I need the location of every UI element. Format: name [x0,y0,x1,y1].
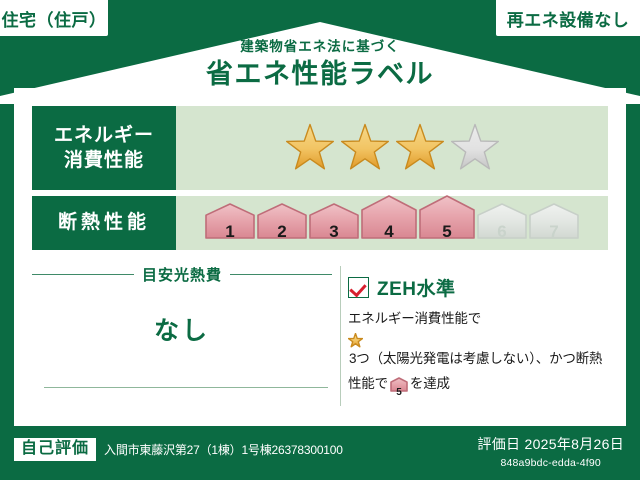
zeh-section: ZEH水準 エネルギー消費性能で3つ（太陽光発電は考慮しない）、かつ断熱性能で5… [348,264,608,410]
insulation-level-7: 7 [529,203,579,244]
zeh-desc-star-count: 3つ（太陽光発電 [349,351,449,366]
footer-right-group: 評価日 2025年8月26日 848a9bdc-edda-4f90 [477,434,624,469]
heading-rule-left [32,274,134,275]
tag-renewable-equipment: 再エネ設備なし [496,0,640,36]
zeh-title-text: ZEH水準 [377,274,456,301]
property-address: 入間市東藤沢第27（1棟）1号棟26378300100 [104,441,343,458]
section-divider [340,266,341,406]
insulation-performance-value: 1234567 [176,196,608,250]
star-icon-inline [348,333,608,348]
insulation-level-6-number: 6 [477,223,527,240]
page-title: 省エネ性能ラベル [0,57,640,91]
star-icon-filled [285,123,335,173]
insulation-performance-row: 断熱性能 1234567 [32,196,608,250]
insulation-level-5: 5 [419,195,475,244]
insulation-level-scale: 1234567 [205,200,579,246]
star-icon-filled [340,123,390,173]
energy-performance-row: エネルギー 消費性能 [32,106,608,190]
zeh-desc-part1: エネルギー消費性能で [348,311,481,326]
insulation-level-2-number: 2 [257,223,307,240]
insulation-key-text: 断熱性能 [58,210,150,235]
energy-performance-value [176,106,608,190]
label-footer: 自己評価 入間市東藤沢第27（1棟）1号棟26378300100 評価日 202… [0,426,640,480]
utility-cost-heading: 目安光熱費 [32,264,332,285]
utility-cost-bottom-rule [44,387,328,388]
insulation-level-4: 4 [361,195,417,244]
insulation-performance-label-key: 断熱性能 [32,196,176,250]
energy-key-line2: 消費性能 [64,148,144,173]
title-subtitle: 建築物省エネ法に基づく [0,38,640,56]
insulation-level-3-number: 3 [309,223,359,240]
utility-cost-section: 目安光熱費 なし [32,264,332,410]
insulation-level-1-number: 1 [205,223,255,240]
insulation-level-7-number: 7 [529,223,579,240]
star-rating [285,123,500,173]
label-title-block: 建築物省エネ法に基づく 省エネ性能ラベル [0,38,640,91]
zeh-heading: ZEH水準 [348,274,608,301]
evaluation-date: 評価日 2025年8月26日 [477,434,624,454]
zeh-description: エネルギー消費性能で3つ（太陽光発電は考慮しない）、かつ断熱性能で5を達成 [348,308,608,399]
footer-left-group: 自己評価 入間市東藤沢第27（1棟）1号棟26378300100 [14,438,343,461]
self-evaluation-badge: 自己評価 [14,438,96,461]
evaluation-id: 848a9bdc-edda-4f90 [477,457,624,469]
utility-cost-value: なし [32,311,332,347]
tag-building-type: 住宅（住戸） [0,0,108,36]
insulation-level-6: 6 [477,203,527,244]
utility-cost-heading-text: 目安光熱費 [142,264,222,285]
energy-key-line1: エネルギー [54,123,154,148]
insulation-level-3: 3 [309,203,359,244]
insulation-level-1: 1 [205,203,255,244]
insulation-level-2: 2 [257,203,307,244]
heading-rule-right [230,274,332,275]
star-icon-filled [395,123,445,173]
energy-performance-label-key: エネルギー 消費性能 [32,106,176,190]
insulation-level-icon-inline: 5 [390,377,408,399]
energy-performance-label: 住宅（住戸） 再エネ設備なし 建築物省エネ法に基づく 省エネ性能ラベル エネルギ… [0,0,640,480]
label-body-panel: エネルギー 消費性能 断熱性能 1234567 目安光熱費 なし [14,88,626,426]
star-icon-empty [450,123,500,173]
checkmark-icon [348,277,369,298]
zeh-desc-part3: を達成 [410,376,450,391]
insulation-level-4-number: 4 [361,223,417,240]
insulation-level-5-number: 5 [419,223,475,240]
